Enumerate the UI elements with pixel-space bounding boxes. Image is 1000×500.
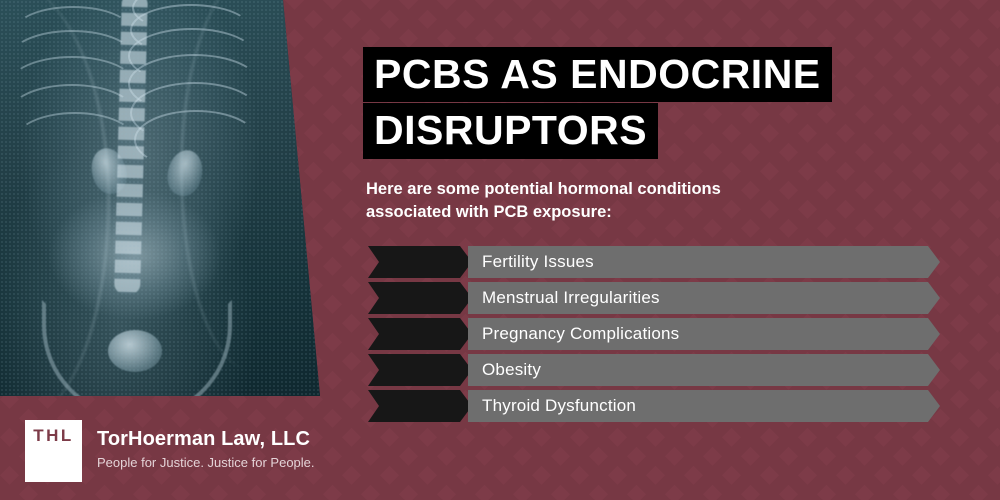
xray-image-panel <box>0 0 330 396</box>
subtitle-line-1: Here are some potential hormonal conditi… <box>366 178 866 201</box>
title-line-1: PCBS AS ENDOCRINE <box>363 47 832 102</box>
title-line-2: DISRUPTORS <box>363 103 658 158</box>
brand-logo: THL TorHoerman Law, LLC People for Justi… <box>25 420 315 482</box>
list-item: Pregnancy Complications <box>368 318 948 350</box>
infographic-canvas: PCBS AS ENDOCRINE DISRUPTORS Here are so… <box>0 0 1000 500</box>
chevron-tag-icon <box>368 282 472 314</box>
brand-text: TorHoerman Law, LLC People for Justice. … <box>97 420 315 473</box>
list-item: Menstrual Irregularities <box>368 282 948 314</box>
subtitle-line-2: associated with PCB exposure: <box>366 201 866 224</box>
halftone-texture <box>0 0 330 396</box>
chevron-tag-icon <box>368 354 472 386</box>
brand-tagline: People for Justice. Justice for People. <box>97 453 315 473</box>
list-item: Obesity <box>368 354 948 386</box>
condition-label: Thyroid Dysfunction <box>482 390 636 422</box>
chevron-tag-icon <box>368 246 472 278</box>
page-title: PCBS AS ENDOCRINE DISRUPTORS <box>363 47 868 159</box>
chevron-tag-icon <box>368 390 472 422</box>
condition-label: Obesity <box>482 354 541 386</box>
condition-label: Fertility Issues <box>482 246 594 278</box>
condition-label: Menstrual Irregularities <box>482 282 660 314</box>
condition-label: Pregnancy Complications <box>482 318 679 350</box>
brand-name: TorHoerman Law, LLC <box>97 428 315 450</box>
chevron-tag-icon <box>368 318 472 350</box>
conditions-list: Fertility Issues Menstrual Irregularitie… <box>368 246 948 426</box>
thl-monogram-icon: THL <box>25 420 82 482</box>
thl-monogram-text: THL <box>33 427 74 482</box>
subtitle: Here are some potential hormonal conditi… <box>366 178 866 225</box>
list-item: Fertility Issues <box>368 246 948 278</box>
list-item: Thyroid Dysfunction <box>368 390 948 422</box>
